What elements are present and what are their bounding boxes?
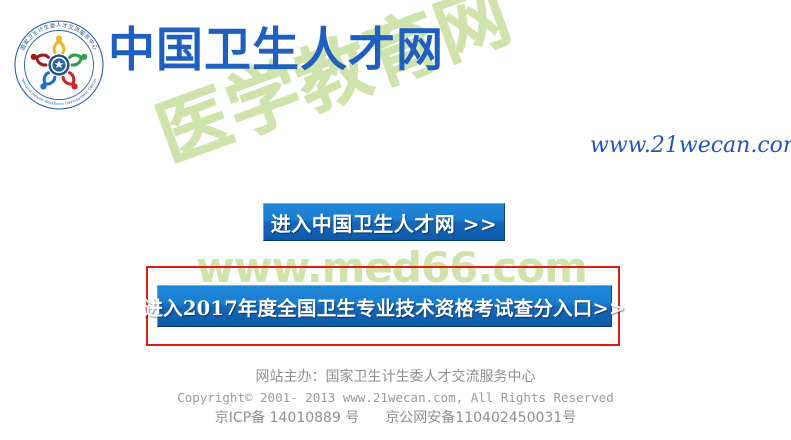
site-header: 国家卫生计生委人才交流服务中心 National Health Workforc… [0, 0, 791, 120]
site-footer: 网站主办：国家卫生计生委人才交流服务中心 Copyright© 2001- 20… [0, 366, 791, 429]
enter-site-button[interactable]: 进入中国卫生人才网 >> [263, 203, 505, 241]
exam-score-entry-button[interactable]: 进入2017年度全国卫生专业技术资格考试查分入口>> [157, 285, 612, 327]
footer-organizer: 网站主办：国家卫生计生委人才交流服务中心 [0, 366, 791, 388]
content-layer: 国家卫生计生委人才交流服务中心 National Health Workforc… [0, 0, 791, 440]
footer-copyright: Copyright© 2001- 2013 www.21wecan.com, A… [0, 388, 791, 407]
icp-license[interactable]: 京ICP备 14010889 号 [215, 410, 360, 426]
page-root: 医学教育网 www.med66.com 国家卫生计生委人才交流服务中心 [0, 0, 791, 440]
logo-icon: 国家卫生计生委人才交流服务中心 National Health Workforc… [12, 18, 106, 112]
site-title: 中国卫生人才网 [108, 22, 444, 80]
public-security-record[interactable]: 京公网安备110402450031号 [385, 410, 576, 426]
footer-icp-line: 京ICP备 14010889 号京公网安备110402450031号 [0, 407, 791, 429]
site-url-text: www.21wecan.com [590, 132, 791, 160]
